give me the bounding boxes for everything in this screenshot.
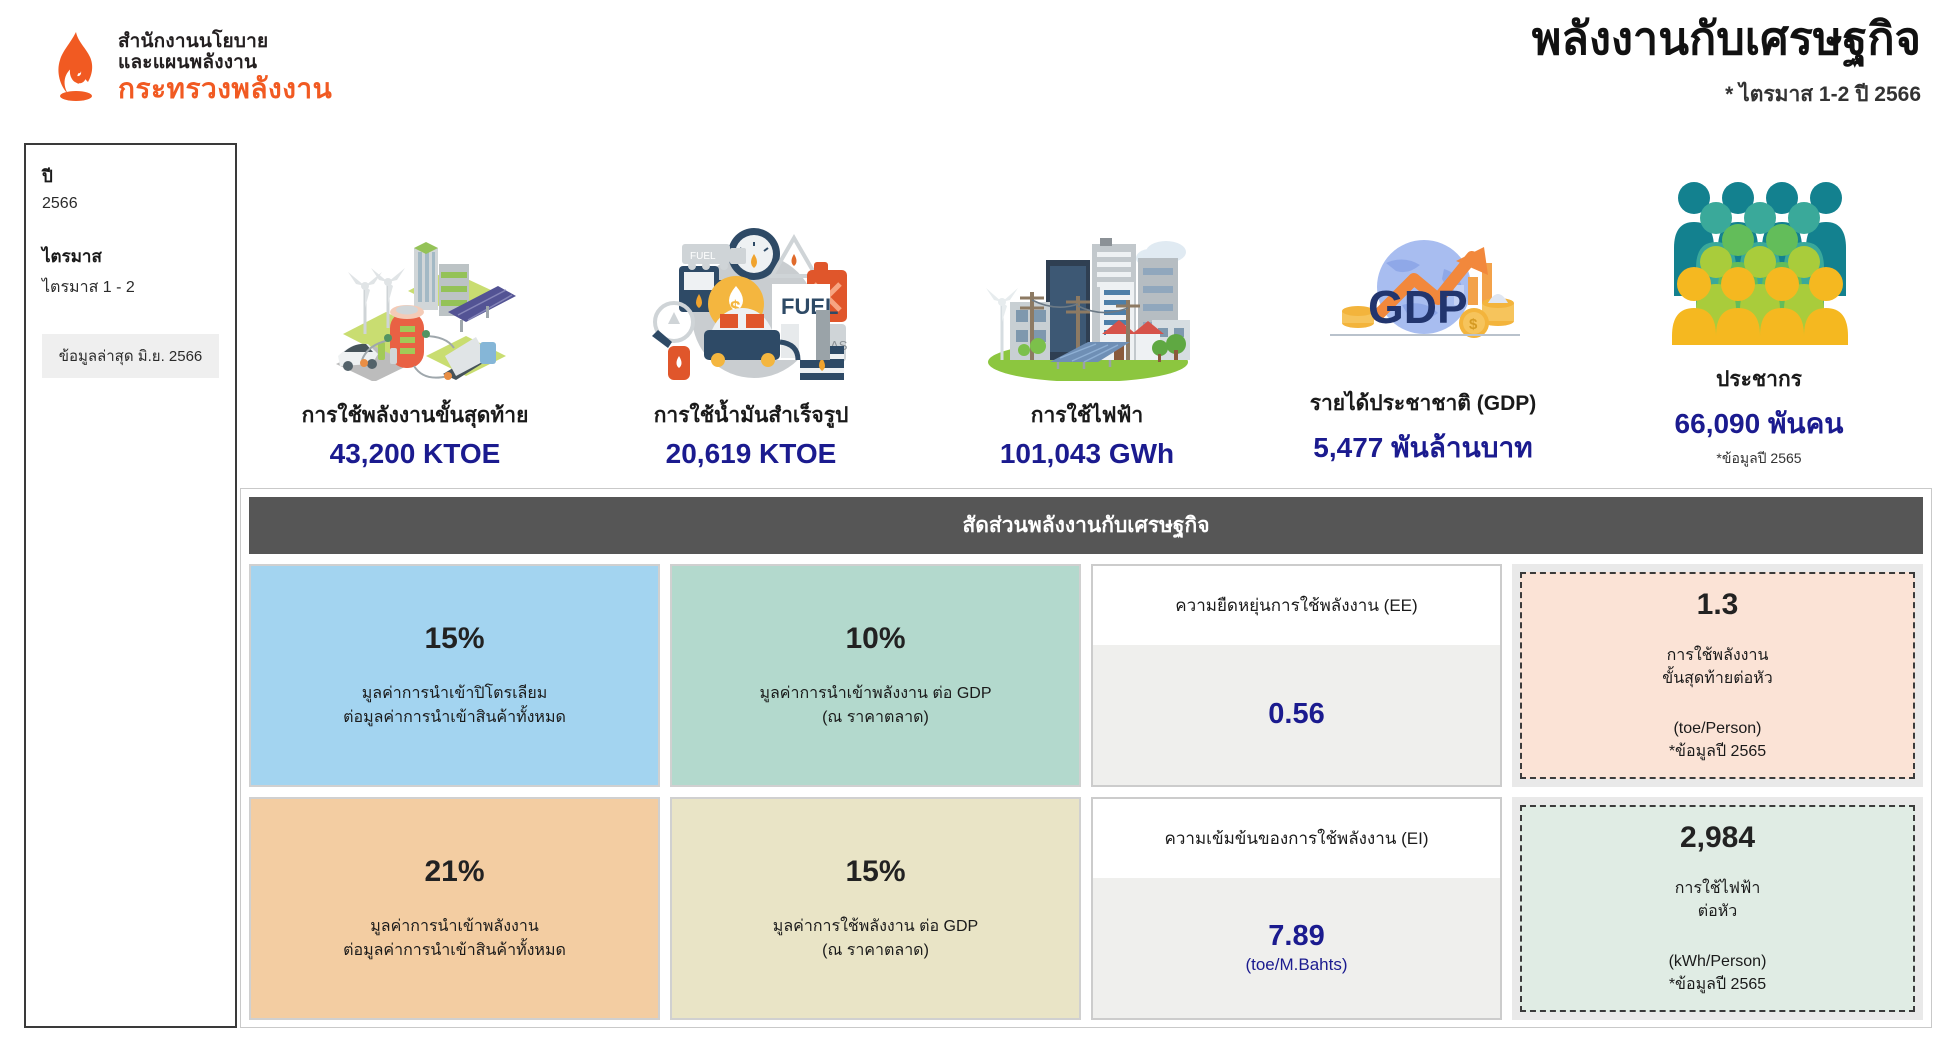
kpi-value: 5,477 พันล้านบาท [1268,426,1578,470]
dashed-desc-line-1: การใช้ไฟฟ้า [1675,880,1761,897]
kpi-value: 66,090 พันคน [1604,402,1914,446]
kpi-gdp: $ GDP รายได้ประชาชาติ (GDP) 5,477 พันล้า… [1268,179,1578,470]
card-unit: (toe/M.Bahts) [1245,955,1347,975]
metrics-grid: 15% มูลค่าการนำเข้าปิโตรเลียม ต่อมูลค่าก… [249,564,1923,1020]
tile-energy-import-to-gdp[interactable]: 10% มูลค่าการนำเข้าพลังงาน ต่อ GDP (ณ รา… [670,564,1081,787]
kpi-note: *ข้อมูลปี 2565 [1604,448,1914,470]
kpi-label: ประชากร [1604,363,1914,396]
dashed-box: 2,984 การใช้ไฟฟ้า ต่อหัว (kWh/Person) *ข… [1520,805,1915,1012]
dashed-unit-line-2: *ข้อมูลปี 2565 [1669,743,1766,760]
gdp-growth-icon: $ GDP [1268,179,1578,369]
dashed-cell-energy-per-capita[interactable]: 1.3 การใช้พลังงาน ขั้นสุดท้ายต่อหัว (toe… [1512,564,1923,787]
page-subtitle: * ไตรมาส 1-2 ปี 2566 [1532,78,1921,111]
kpi-petroleum-use: FUEL GAS [596,191,906,470]
svg-text:$: $ [1469,316,1478,333]
dashed-desc-line-1: การใช้พลังงาน [1667,647,1769,664]
tile-description: มูลค่าการนำเข้าพลังงาน ต่อ GDP (ณ ราคาตล… [759,682,991,730]
tile-description: มูลค่าการนำเข้าพลังงาน ต่อมูลค่าการนำเข้… [343,915,566,963]
dashed-desc-line-2: ต่อหัว [1698,903,1738,920]
kpi-final-energy: การใช้พลังงานขั้นสุดท้าย 43,200 KTOE [260,191,570,470]
card-body: 0.56 [1093,645,1500,785]
dashed-value: 1.3 [1697,588,1739,622]
tile-value: 21% [424,855,484,889]
tile-desc-line-1: มูลค่าการนำเข้าพลังงาน ต่อ GDP [759,685,991,702]
dashed-unit-line-1: (toe/Person) [1673,720,1761,737]
logo-line-1: สำนักงานนโยบาย [118,32,332,51]
kpi-value: 43,200 KTOE [260,438,570,470]
tile-description: มูลค่าการนำเข้าปิโตรเลียม ต่อมูลค่าการนำ… [343,682,566,730]
eppo-logo: สำนักงานนโยบาย และแผนพลังงาน กระทรวงพลัง… [48,30,332,104]
page-title: พลังงานกับเศรษฐกิจ [1532,14,1921,64]
card-title: ความยืดหยุ่นการใช้พลังงาน (EE) [1093,566,1500,645]
kpi-label: รายได้ประชาชาติ (GDP) [1268,387,1578,420]
dashed-unit: (kWh/Person) *ข้อมูลปี 2565 [1669,950,1767,996]
card-energy-intensity[interactable]: ความเข้มข้นของการใช้พลังงาน (EI) 7.89 (t… [1091,797,1502,1020]
year-filter-value[interactable]: 2566 [42,195,219,213]
panel-header: สัดส่วนพลังงานกับเศรษฐกิจ [249,497,1923,554]
kpi-electricity-use: การใช้ไฟฟ้า 101,043 GWh [932,191,1242,470]
dashed-description: การใช้ไฟฟ้า ต่อหัว [1675,877,1761,923]
page-header: สำนักงานนโยบาย และแผนพลังงาน กระทรวงพลัง… [0,0,1949,135]
tile-desc-line-2: ต่อมูลค่าการนำเข้าสินค้าทั้งหมด [343,942,566,959]
city-power-icon [932,191,1242,381]
tile-desc-line-2: (ณ ราคาตลาด) [822,942,929,959]
kpi-value: 101,043 GWh [932,438,1242,470]
card-title: ความเข้มข้นของการใช้พลังงาน (EI) [1093,799,1500,878]
tile-desc-line-1: มูลค่าการใช้พลังงาน ต่อ GDP [773,918,978,935]
tile-value: 15% [424,622,484,656]
quarter-filter-label: ไตรมาส [42,243,219,270]
tile-desc-line-2: (ณ ราคาตลาด) [822,709,929,726]
dashed-value: 2,984 [1680,821,1755,855]
dashed-description: การใช้พลังงาน ขั้นสุดท้ายต่อหัว [1662,644,1772,690]
fuel-station-icon: FUEL GAS [596,191,906,381]
kpi-label: การใช้พลังงานขั้นสุดท้าย [260,399,570,432]
renewable-energy-icon [260,191,570,381]
latest-data-chip[interactable]: ข้อมูลล่าสุด มิ.ย. 2566 [42,334,219,378]
card-energy-elasticity[interactable]: ความยืดหยุ่นการใช้พลังงาน (EE) 0.56 [1091,564,1502,787]
dashed-desc-line-2: ขั้นสุดท้ายต่อหัว [1662,670,1772,687]
title-block: พลังงานกับเศรษฐกิจ * ไตรมาส 1-2 ปี 2566 [1532,14,1921,111]
flame-logo-icon [48,30,104,104]
tile-desc-line-1: มูลค่าการนำเข้าพลังงาน [370,918,539,935]
card-value: 7.89 [1268,920,1324,953]
kpi-value: 20,619 KTOE [596,438,906,470]
dashed-unit-line-2: *ข้อมูลปี 2565 [1669,976,1766,993]
tile-desc-line-2: ต่อมูลค่าการนำเข้าสินค้าทั้งหมด [343,709,566,726]
card-value: 0.56 [1268,698,1324,731]
logo-line-2: และแผนพลังงาน [118,53,332,72]
quarter-filter-value[interactable]: ไตรมาส 1 - 2 [42,275,219,300]
logo-line-3: กระทรวงพลังงาน [118,75,332,103]
kpi-label: การใช้ไฟฟ้า [932,399,1242,432]
dashboard-page: สำนักงานนโยบาย และแผนพลังงาน กระทรวงพลัง… [0,0,1949,1049]
kpi-label: การใช้น้ำมันสำเร็จรูป [596,399,906,432]
dashed-cell-electricity-per-capita[interactable]: 2,984 การใช้ไฟฟ้า ต่อหัว (kWh/Person) *ข… [1512,797,1923,1020]
tile-desc-line-1: มูลค่าการนำเข้าปิโตรเลียม [362,685,548,702]
svg-text:GDP: GDP [1368,281,1468,333]
dashed-box: 1.3 การใช้พลังงาน ขั้นสุดท้ายต่อหัว (toe… [1520,572,1915,779]
card-body: 7.89 (toe/M.Bahts) [1093,878,1500,1018]
svg-text:FUEL: FUEL [690,251,716,262]
tile-petroleum-import-share[interactable]: 15% มูลค่าการนำเข้าปิโตรเลียม ต่อมูลค่าก… [249,564,660,787]
tile-value: 10% [845,622,905,656]
dashed-unit-line-1: (kWh/Person) [1669,953,1767,970]
tile-description: มูลค่าการใช้พลังงาน ต่อ GDP (ณ ราคาตลาด) [773,915,978,963]
year-filter-label: ปี [42,163,219,190]
kpi-population: ประชากร 66,090 พันคน *ข้อมูลปี 2565 [1604,155,1914,470]
dashed-unit: (toe/Person) *ข้อมูลปี 2565 [1669,717,1766,763]
population-group-icon [1604,155,1914,345]
proportion-panel: สัดส่วนพลังงานกับเศรษฐกิจ 15% มูลค่าการน… [240,488,1932,1028]
filter-sidebar: ปี 2566 ไตรมาส ไตรมาส 1 - 2 ข้อมูลล่าสุด… [24,143,237,1028]
tile-value: 15% [845,855,905,889]
tile-energy-import-share[interactable]: 21% มูลค่าการนำเข้าพลังงาน ต่อมูลค่าการน… [249,797,660,1020]
tile-energy-use-to-gdp[interactable]: 15% มูลค่าการใช้พลังงาน ต่อ GDP (ณ ราคาต… [670,797,1081,1020]
kpi-row: การใช้พลังงานขั้นสุดท้าย 43,200 KTOE [247,150,1927,470]
